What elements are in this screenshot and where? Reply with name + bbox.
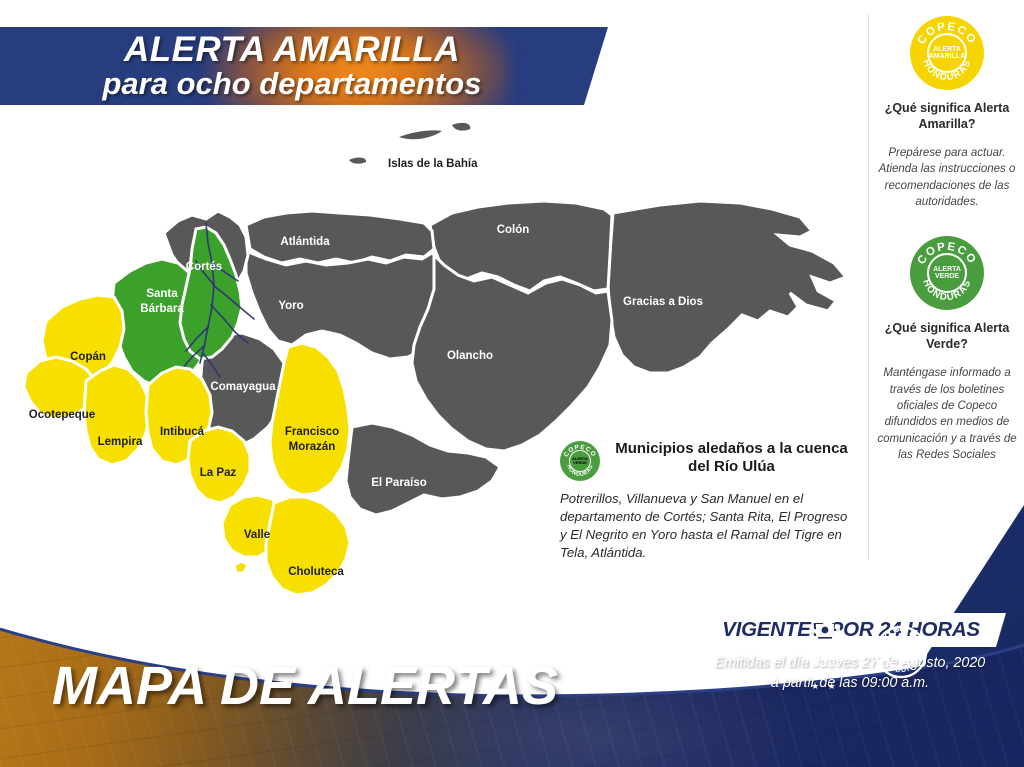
alert-legend-sidebar: COPECO HONDURAS ALERTA AMARILLA ¿Qué sig… — [872, 16, 1022, 556]
label-santa-barbara: Santa — [146, 288, 178, 300]
label-lempira: Lempira — [98, 436, 143, 448]
header-text-group: ALERTA AMARILLA para ocho departamentos — [0, 27, 608, 105]
label-colon: Colón — [497, 224, 530, 236]
dept-olancho — [412, 255, 612, 451]
dept-gracias-a-dios — [608, 201, 846, 373]
alerta-verde-description: Manténgase informado a través de los bol… — [872, 365, 1022, 463]
copeco-logo-icon: COPECO HONDURAS — [873, 624, 929, 680]
header-title: ALERTA AMARILLA — [124, 32, 460, 67]
dept-francisco-morazan — [270, 343, 350, 495]
label-atlantida: Atlántida — [280, 236, 330, 248]
copeco-alerta-amarilla-badge: COPECO HONDURAS ALERTA AMARILLA — [910, 16, 984, 90]
dept-la-paz — [188, 427, 250, 503]
rio-ulua-note-header: COPECO HONDURAS ALERTA VERDE Municipios … — [560, 440, 855, 481]
footer-title: MAPA DE ALERTAS — [52, 659, 558, 713]
copeco-white-logo: COPECO HONDURAS — [873, 624, 929, 680]
islas-de-la-bahia-label: Islas de la Bahía — [388, 158, 478, 170]
alerta-amarilla-question: ¿Qué significa Alerta Amarilla? — [872, 100, 1022, 132]
label-yoro: Yoro — [278, 300, 303, 312]
header-subtitle: para ocho departamentos — [103, 68, 482, 101]
coat-of-arms-icon — [795, 612, 855, 646]
label-comayagua: Comayagua — [210, 381, 276, 393]
copeco-verde-small-badge: COPECO HONDURAS ALERTA VERDE — [560, 441, 600, 481]
label-santa-barbara-2: Bárbara — [140, 303, 184, 315]
badge-inner-line2: VERDE — [935, 273, 959, 280]
label-cortes: Cortés — [186, 261, 222, 273]
label-el-paraiso: El Paraíso — [371, 477, 427, 489]
footer-logo-group: GOBIERNO DE LA REPÚBLICA DE HONDURAS ★ ★… — [795, 612, 929, 692]
label-francisco-morazan: Francisco — [285, 426, 339, 438]
badge-inner-line1: ALERTA — [933, 266, 961, 273]
gov-logo-caption: GOBIERNO DE LA REPÚBLICA DE HONDURAS — [795, 651, 855, 668]
rio-ulua-municipalities-text: Potrerillos, Villanueva y San Manuel en … — [560, 490, 855, 562]
label-valle: Valle — [244, 529, 270, 541]
label-choluteca: Choluteca — [288, 566, 344, 578]
label-francisco-morazan-2: Morazán — [289, 441, 336, 453]
label-gracias-a-dios: Gracias a Dios — [623, 296, 703, 308]
badge-inner-line1: ALERTA — [933, 46, 961, 53]
dept-atlantida — [246, 211, 434, 263]
rio-ulua-title: Municipios aledaños a la cuenca del Río … — [608, 440, 855, 477]
alerta-verde-block: COPECO HONDURAS ALERTA VERDE ¿Qué signif… — [872, 236, 1022, 463]
copeco-alerta-verde-badge: COPECO HONDURAS ALERTA VERDE — [910, 236, 984, 310]
badge-core-small: ALERTA VERDE — [569, 450, 591, 472]
alerta-amarilla-description: Prepárese para actuar. Atienda las instr… — [872, 145, 1022, 210]
gov-logo-stars: ★ ★ ★ ★ ★ — [795, 670, 855, 692]
badge-inner-line2: AMARILLA — [929, 53, 966, 60]
gobierno-honduras-logo: GOBIERNO DE LA REPÚBLICA DE HONDURAS ★ ★… — [795, 612, 855, 692]
alerta-verde-question: ¿Qué significa Alerta Verde? — [872, 320, 1022, 352]
rio-ulua-note: COPECO HONDURAS ALERTA VERDE Municipios … — [560, 440, 855, 562]
label-la-paz: La Paz — [200, 467, 237, 479]
label-ocotepeque: Ocotepeque — [29, 409, 95, 421]
label-copan: Copán — [70, 351, 106, 363]
label-olancho: Olancho — [447, 350, 493, 362]
badge-inner-line2: VERDE — [573, 461, 587, 465]
valle-islet — [234, 561, 248, 573]
dept-choluteca — [266, 497, 350, 595]
label-intibuca: Intibucá — [160, 426, 205, 438]
sidebar-divider — [868, 14, 869, 559]
badge-core-yellow: ALERTA AMARILLA — [927, 33, 967, 73]
header-banner: ALERTA AMARILLA para ocho departamentos — [0, 27, 608, 105]
